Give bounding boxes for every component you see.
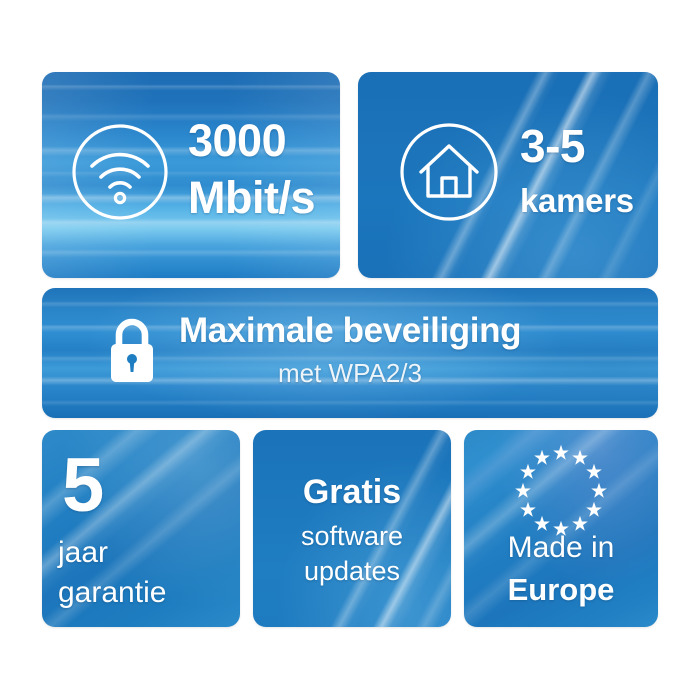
gratis-title: Gratis	[253, 475, 451, 509]
rooms-value: 3-5	[520, 123, 585, 169]
gratis-line2: updates	[253, 558, 451, 585]
europe-line1: Made in	[464, 533, 658, 563]
warranty-line2: garantie	[58, 578, 166, 608]
europe-line2: Europe	[464, 574, 658, 605]
eu-stars-icon	[513, 443, 609, 539]
warranty-line1: jaar	[58, 538, 108, 568]
security-subtitle: met WPA2/3	[42, 360, 658, 386]
gratis-line1: software	[253, 523, 451, 550]
wifi-icon	[70, 122, 170, 222]
speed-value: 3000	[188, 118, 286, 163]
rooms-label: kamers	[520, 184, 634, 217]
speed-unit: Mbit/s	[188, 175, 315, 220]
warranty-number: 5	[62, 448, 102, 524]
feature-grid: 3000 Mbit/s 3-5 kamers Maximale beveilig…	[0, 0, 700, 700]
house-icon	[397, 120, 501, 224]
security-title: Maximale beveiliging	[42, 313, 658, 348]
